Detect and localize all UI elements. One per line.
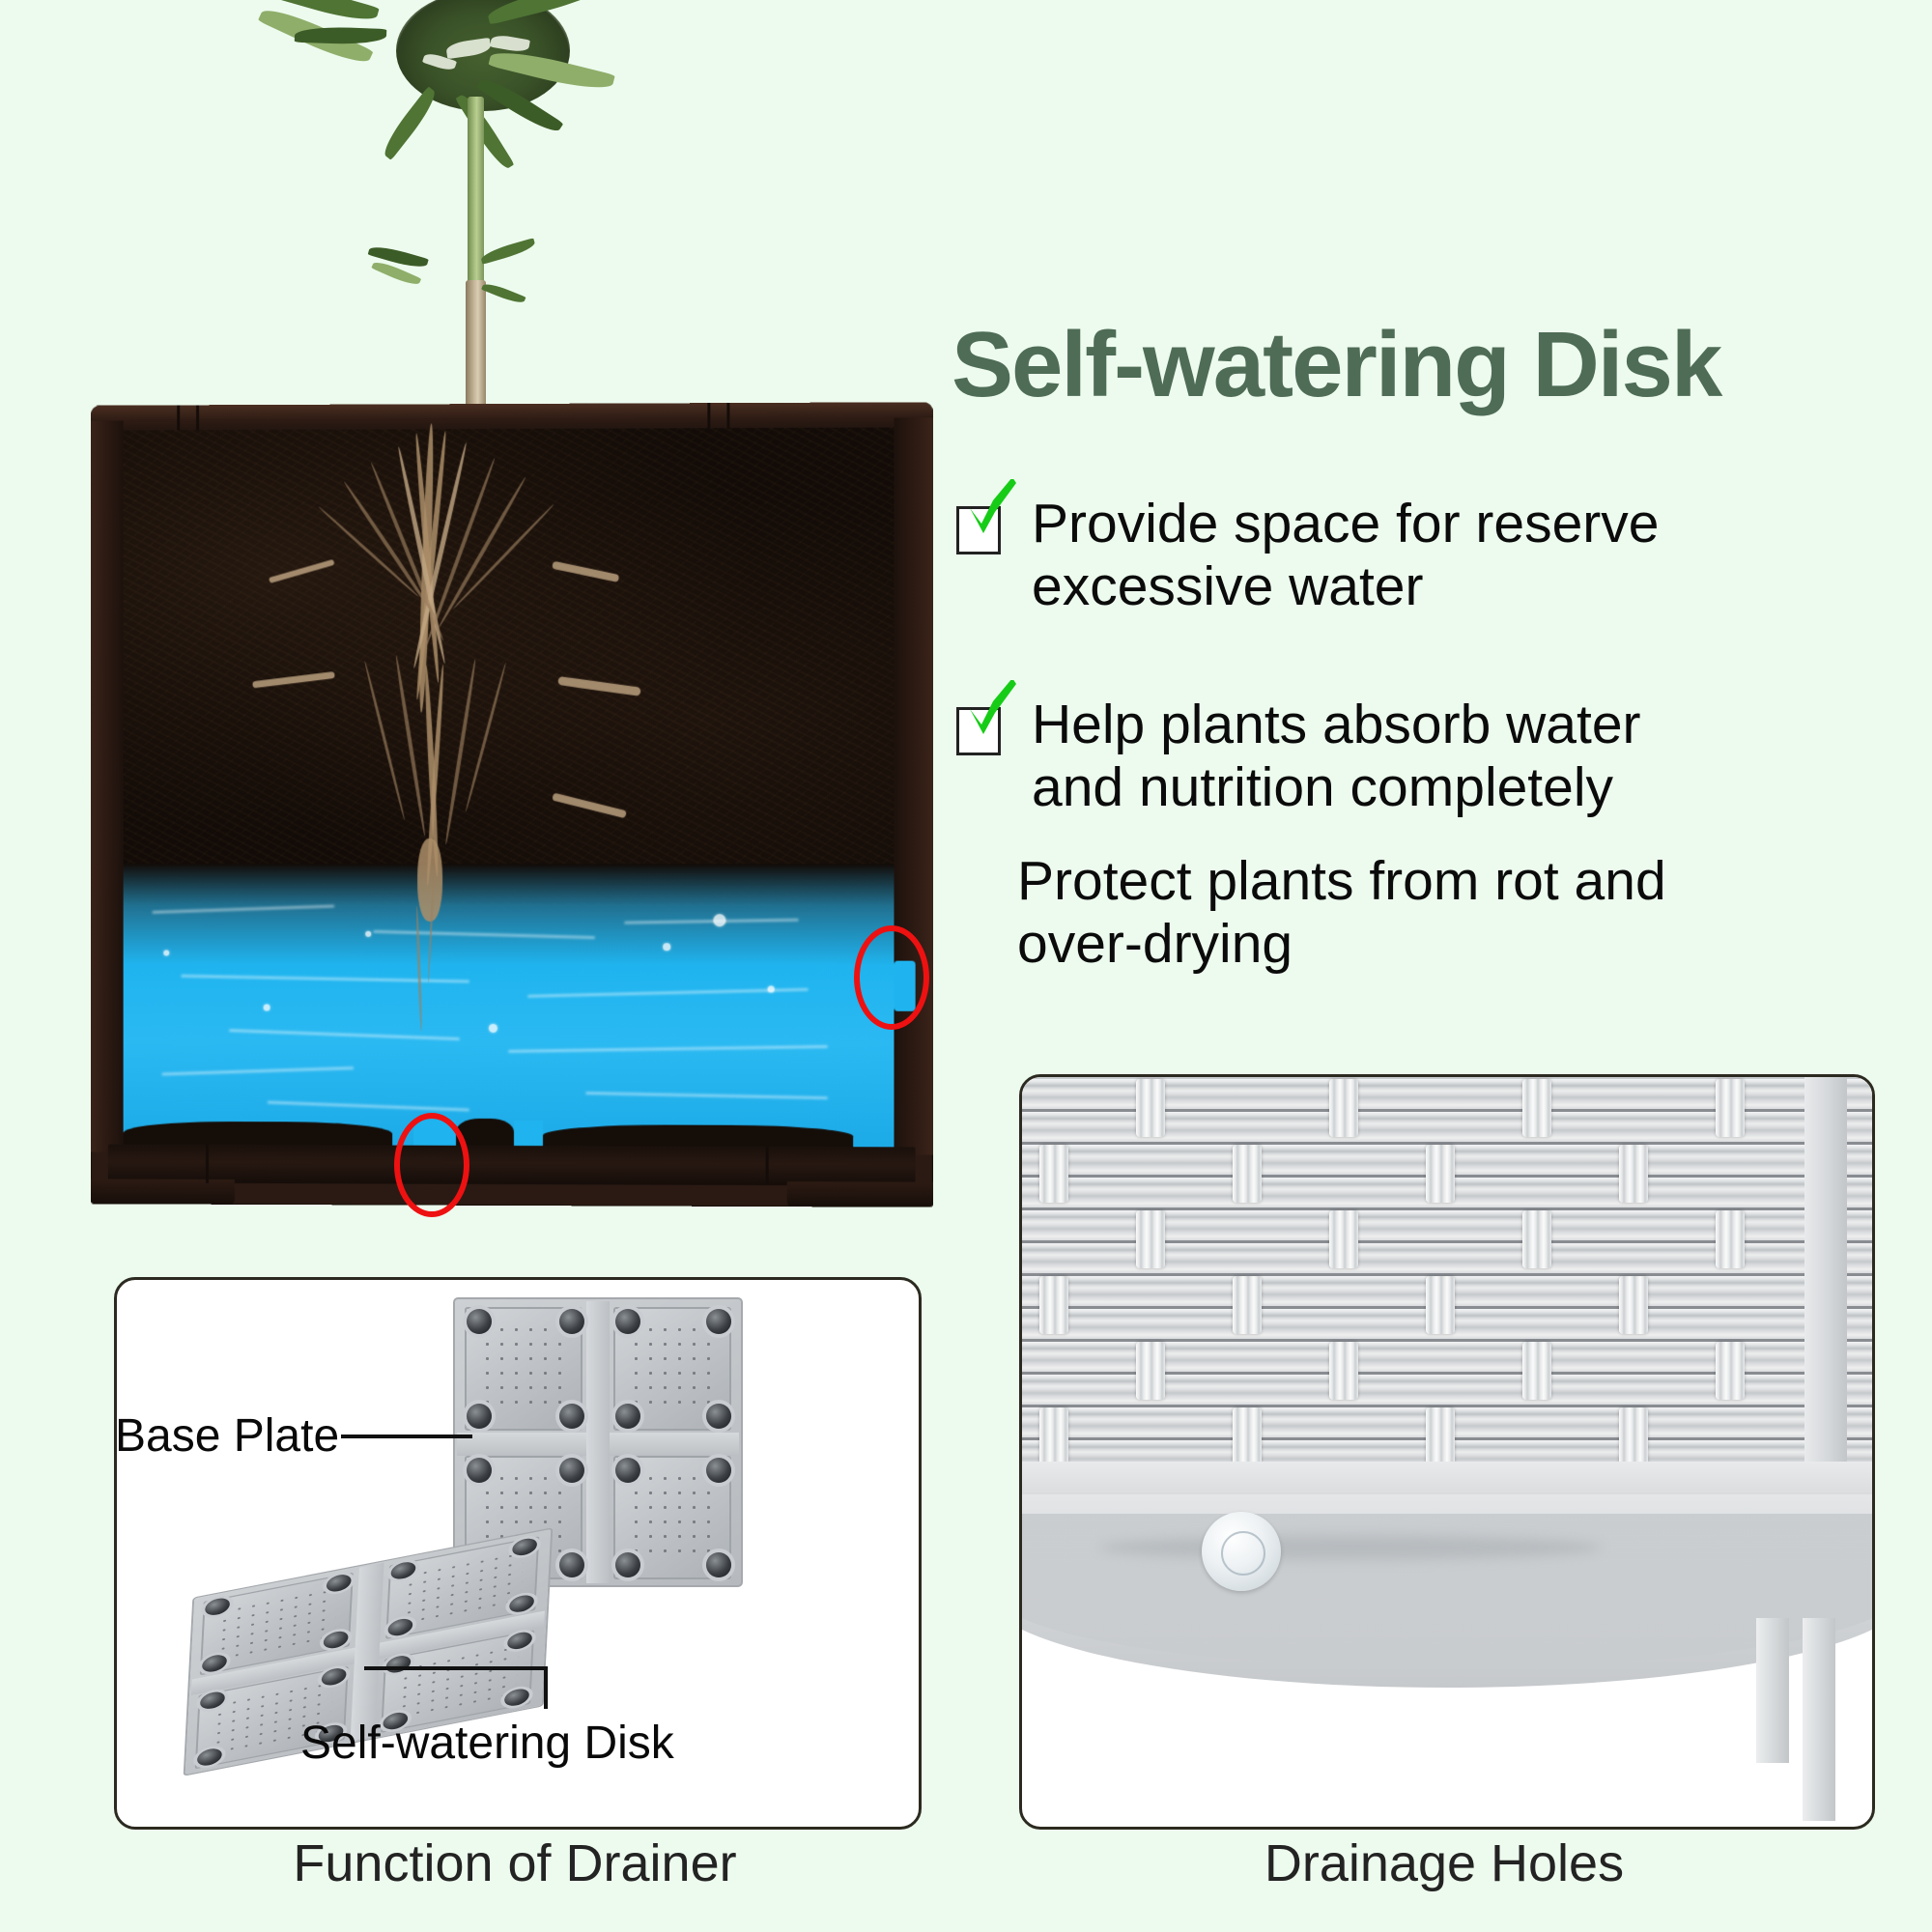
planter-rim — [91, 402, 933, 430]
planter-body — [91, 402, 933, 1207]
frame-side-post — [1804, 1077, 1847, 1478]
drainage-hole-plug-icon — [1202, 1512, 1281, 1591]
extra-note: Protect plants from rot and over-drying — [1017, 850, 1932, 976]
planter-wall-right — [894, 417, 932, 1154]
leader-line-disk-horizontal — [364, 1666, 548, 1670]
leaf — [481, 280, 526, 306]
caption-drainage-holes: Drainage Holes — [1019, 1833, 1869, 1893]
soil-layer — [124, 428, 895, 913]
leader-line-base-plate — [341, 1435, 472, 1438]
drainage-holes-panel — [1019, 1074, 1875, 1830]
function-of-drainer-panel: Base Plate Self-watering Disk — [114, 1277, 922, 1830]
list-item: Help plants absorb water and nutrition c… — [956, 694, 1922, 819]
plant-photo — [319, 0, 647, 406]
leaf — [479, 238, 536, 265]
leaf — [379, 86, 441, 160]
red-circle-side-drain-gap — [854, 925, 929, 1030]
list-item-label: Provide space for reserve excessive wate… — [1032, 493, 1922, 618]
leader-line-disk-vertical — [544, 1666, 548, 1709]
plant-stem-lower — [466, 280, 486, 415]
feature-list: Provide space for reserve excessive wate… — [956, 493, 1922, 854]
rattan-weave-texture — [1022, 1077, 1872, 1478]
planter-wall-left — [91, 421, 124, 1152]
leaf — [295, 26, 387, 45]
list-item-label: Help plants absorb water and nutrition c… — [1032, 694, 1922, 819]
checkbox-checked-icon — [956, 506, 1001, 554]
self-watering-disk-label: Self-watering Disk — [300, 1717, 674, 1770]
caption-function-of-drainer: Function of Drainer — [114, 1833, 916, 1893]
planter-leg — [1756, 1618, 1789, 1763]
page-title: Self-watering Disk — [952, 319, 1918, 412]
water-reservoir — [124, 864, 895, 1165]
base-plate-label: Base Plate — [115, 1409, 339, 1463]
red-circle-bottom-drain-gap — [394, 1113, 469, 1217]
planter-cross-section-photo — [89, 404, 931, 1206]
planter-leg — [1803, 1618, 1835, 1821]
list-item: Provide space for reserve excessive wate… — [956, 493, 1922, 618]
checkbox-checked-icon — [956, 707, 1001, 755]
infographic-canvas: Self-watering Disk Provide space for res… — [0, 0, 1932, 1932]
